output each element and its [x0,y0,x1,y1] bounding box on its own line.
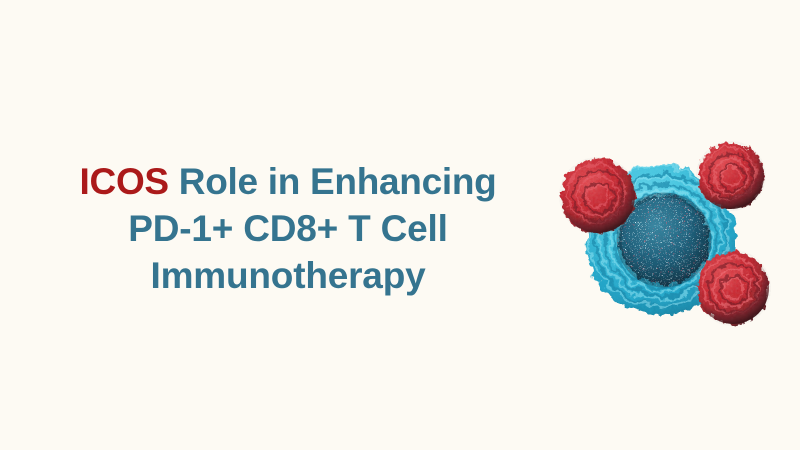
title-line-1: ICOS Role in Enhancing [30,158,546,205]
slide-canvas: ICOS Role in Enhancing PD-1+ CD8+ T Cell… [0,0,800,450]
title-line-1-rest: Role in Enhancing [169,161,497,202]
title-line-2: PD-1+ CD8+ T Cell [30,205,546,252]
t-cells-attacking-cancer-cell-illustration [548,128,794,340]
cell-illustration-svg [548,128,794,340]
title-line-3: Immunotherapy [30,252,546,299]
page-title: ICOS Role in Enhancing PD-1+ CD8+ T Cell… [30,158,546,299]
title-accent-word: ICOS [80,161,169,202]
